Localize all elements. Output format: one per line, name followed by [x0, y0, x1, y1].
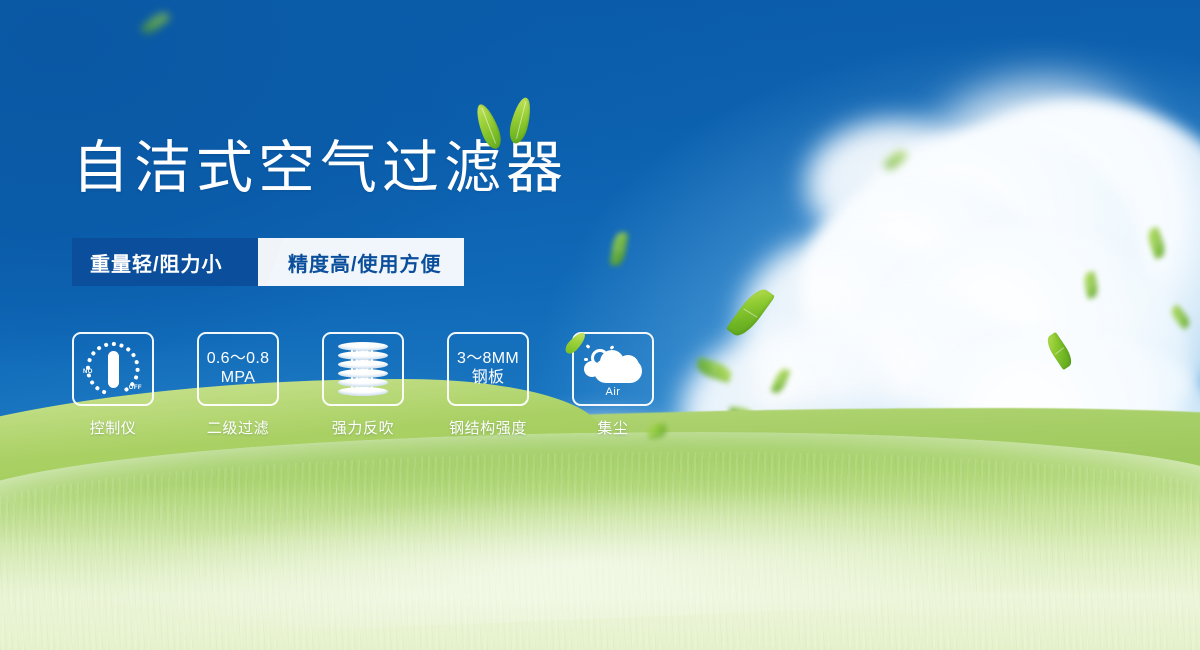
- feature-label: 控制仪: [90, 417, 137, 438]
- feature-item-controller[interactable]: NO OFF 控制仪: [72, 332, 154, 438]
- feature-item-two-stage-filter[interactable]: 0.6〜0.8 MPA 二级过滤: [197, 332, 279, 438]
- gauge-off-label: OFF: [129, 385, 142, 391]
- title-block: 自洁式空气过滤器: [72, 140, 568, 197]
- feature-icon-box: Air: [572, 332, 654, 406]
- feature-icon-box: 0.6〜0.8 MPA: [197, 332, 279, 406]
- title-sprout-leaves: [472, 95, 552, 153]
- gauge-needle: [108, 351, 119, 388]
- feature-label: 钢结构强度: [449, 417, 527, 438]
- gauge-icon: NO OFF: [83, 341, 143, 397]
- feature-label: 二级过滤: [207, 417, 269, 438]
- gauge-on-label: NO: [83, 369, 93, 375]
- subtitle-left-text: 重量轻/阻力小: [90, 248, 223, 277]
- air-label: Air: [582, 386, 644, 398]
- subtitle-bar: 重量轻/阻力小 精度高/使用方便: [72, 238, 464, 286]
- cloud-air-icon: Air: [582, 344, 644, 394]
- sprout-leaf-left-icon: [472, 102, 505, 152]
- subtitle-right-block: 精度高/使用方便: [258, 238, 464, 286]
- feature-item-steel-strength[interactable]: 3〜8MM 钢板 钢结构强度: [447, 332, 529, 438]
- feature-icon-box: [322, 332, 404, 406]
- subtitle-right-text: 精度高/使用方便: [288, 248, 442, 277]
- pressure-text-icon: 0.6〜0.8 MPA: [207, 350, 270, 388]
- feature-item-pulse-blowback[interactable]: 强力反吹: [322, 332, 404, 438]
- sprout-leaf-right-icon: [507, 96, 535, 146]
- feature-label: 集尘: [597, 417, 628, 438]
- grass-sheen: [0, 530, 1200, 650]
- cloud-body: [594, 359, 642, 383]
- feature-item-dust-collection[interactable]: Air 集尘: [572, 332, 654, 438]
- steel-text-icon: 3〜8MM 钢板: [457, 350, 519, 388]
- product-banner: 自洁式空气过滤器 重量轻/阻力小 精度高/使用方便: [0, 0, 1200, 650]
- feature-list: NO OFF 控制仪 0.6〜0.8 MPA 二级过滤: [72, 332, 654, 438]
- feature-icon-box: NO OFF: [72, 332, 154, 406]
- subtitle-left-block: 重量轻/阻力小: [72, 238, 258, 286]
- feature-label: 强力反吹: [332, 417, 394, 438]
- feature-icon-box: 3〜8MM 钢板: [447, 332, 529, 406]
- filter-stack-icon: [338, 342, 388, 396]
